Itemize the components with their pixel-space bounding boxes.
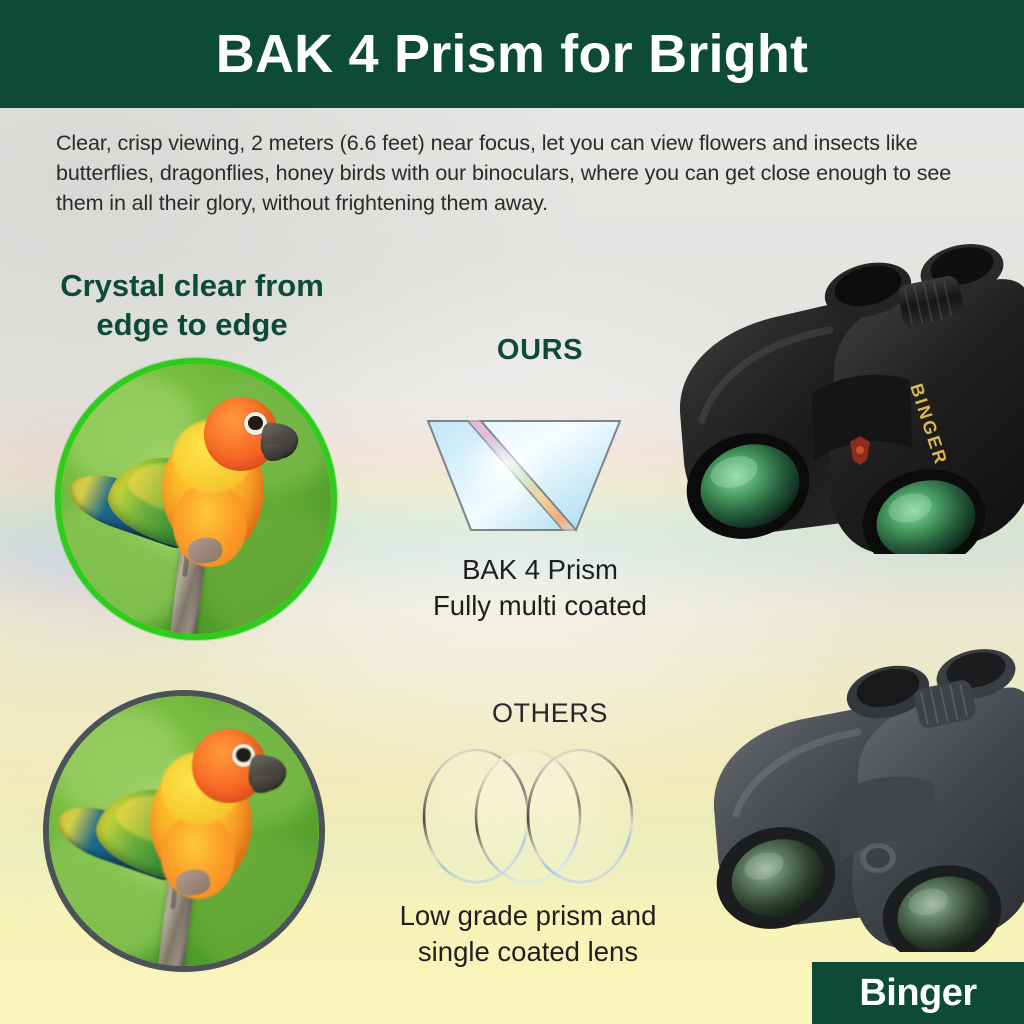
header-banner: BAK 4 Prism for Bright [0,0,1024,108]
sun-conure-parrot-sharp-image [55,358,337,640]
ours-caption: BAK 4 Prism Fully multi coated [330,552,750,624]
infographic-page: BAK 4 Prism for Bright Clear, crisp view… [0,0,1024,1024]
parrot-body [55,358,337,640]
intro-paragraph: Clear, crisp viewing, 2 meters (6.6 feet… [56,128,976,218]
parrot-artwork-blurry [43,690,325,972]
bak4-prism-icon [424,405,624,545]
binger-logo: Binger [812,962,1024,1024]
page-title: BAK 4 Prism for Bright [216,23,808,85]
others-label: OTHERS [390,698,710,729]
sun-conure-parrot-blurry-image [43,690,325,972]
ours-caption-line2: Fully multi coated [330,588,750,624]
ours-caption-line1: BAK 4 Prism [330,552,750,588]
ours-label: OURS [380,334,700,367]
parrot-artwork-sharp [55,358,337,640]
generic-gray-binoculars-image [692,622,1024,952]
others-caption-line1: Low grade prism and [318,898,738,934]
others-caption-line2: single coated lens [318,934,738,970]
left-column-headline: Crystal clear from edge to edge [22,266,362,344]
binger-logo-text: Binger [859,972,976,1015]
others-caption: Low grade prism and single coated lens [318,898,738,970]
three-stacked-lens-icon [418,742,678,890]
binger-black-binoculars-image: BINGER [662,224,1024,554]
parrot-body [43,690,325,972]
